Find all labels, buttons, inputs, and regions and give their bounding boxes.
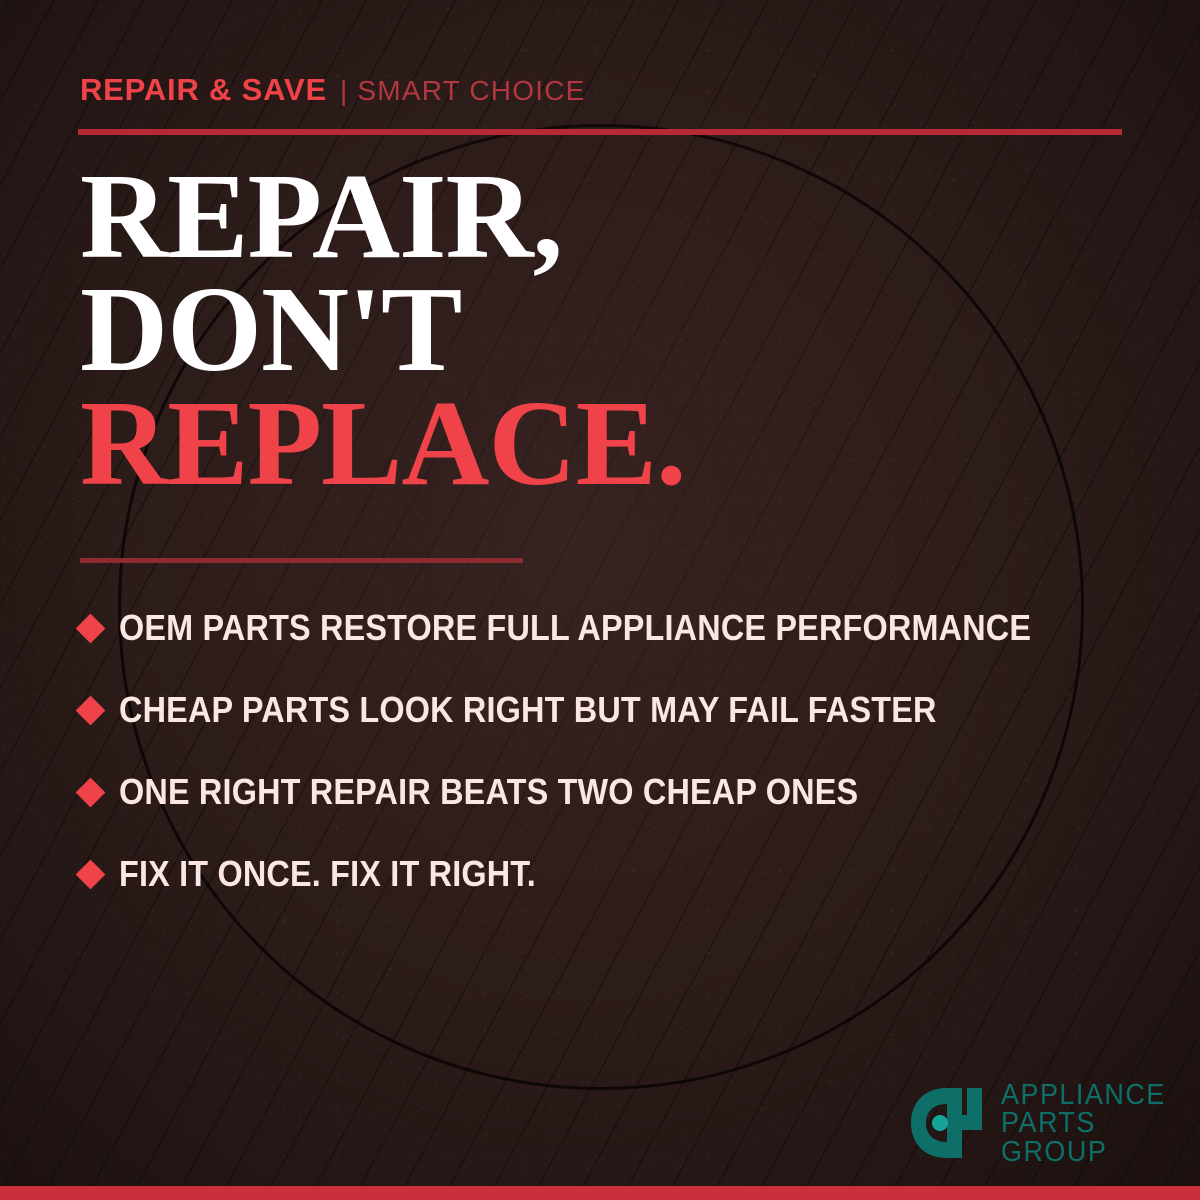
bottom-accent-bar — [0, 1186, 1200, 1200]
eyebrow: REPAIR & SAVE | SMART CHOICE — [80, 72, 586, 108]
headline-line-1: REPAIR, — [80, 160, 685, 273]
headline: REPAIR, DON'T REPLACE. — [80, 160, 685, 500]
brand-logo-line-3: GROUP — [1001, 1138, 1166, 1166]
list-item-label: CHEAP PARTS LOOK RIGHT BUT MAY FAIL FAST… — [119, 689, 937, 731]
diamond-icon — [76, 859, 106, 889]
promo-poster: REPAIR & SAVE | SMART CHOICE REPAIR, DON… — [0, 0, 1200, 1200]
diamond-icon — [76, 695, 106, 725]
brand-logo-line-2: PARTS — [1001, 1109, 1166, 1137]
header-divider-rule — [78, 129, 1122, 135]
headline-line-2: DON'T — [80, 273, 685, 386]
headline-divider-rule — [80, 558, 523, 563]
list-item-label: OEM PARTS RESTORE FULL APPLIANCE PERFORM… — [119, 607, 1031, 649]
brand-logo-line-1: APPLIANCE — [1001, 1081, 1166, 1109]
list-item-label: ONE RIGHT REPAIR BEATS TWO CHEAP ONES — [119, 771, 858, 813]
brand-logo: APPLIANCE PARTS GROUP — [906, 1081, 1178, 1166]
brand-logo-wordmark: APPLIANCE PARTS GROUP — [1001, 1081, 1178, 1166]
list-item: OEM PARTS RESTORE FULL APPLIANCE PERFORM… — [80, 587, 1150, 669]
benefit-list: OEM PARTS RESTORE FULL APPLIANCE PERFORM… — [80, 587, 1150, 915]
list-item: FIX IT ONCE. FIX IT RIGHT. — [80, 833, 1150, 915]
headline-line-3-accent: REPLACE. — [80, 387, 685, 500]
g-monogram-icon — [906, 1084, 988, 1162]
eyebrow-strong-label: REPAIR & SAVE — [80, 72, 327, 108]
diamond-icon — [76, 613, 106, 643]
list-item-label: FIX IT ONCE. FIX IT RIGHT. — [119, 853, 536, 895]
list-item: ONE RIGHT REPAIR BEATS TWO CHEAP ONES — [80, 751, 1150, 833]
list-item: CHEAP PARTS LOOK RIGHT BUT MAY FAIL FAST… — [80, 669, 1150, 751]
eyebrow-light-label: | SMART CHOICE — [340, 75, 586, 107]
diamond-icon — [76, 777, 106, 807]
